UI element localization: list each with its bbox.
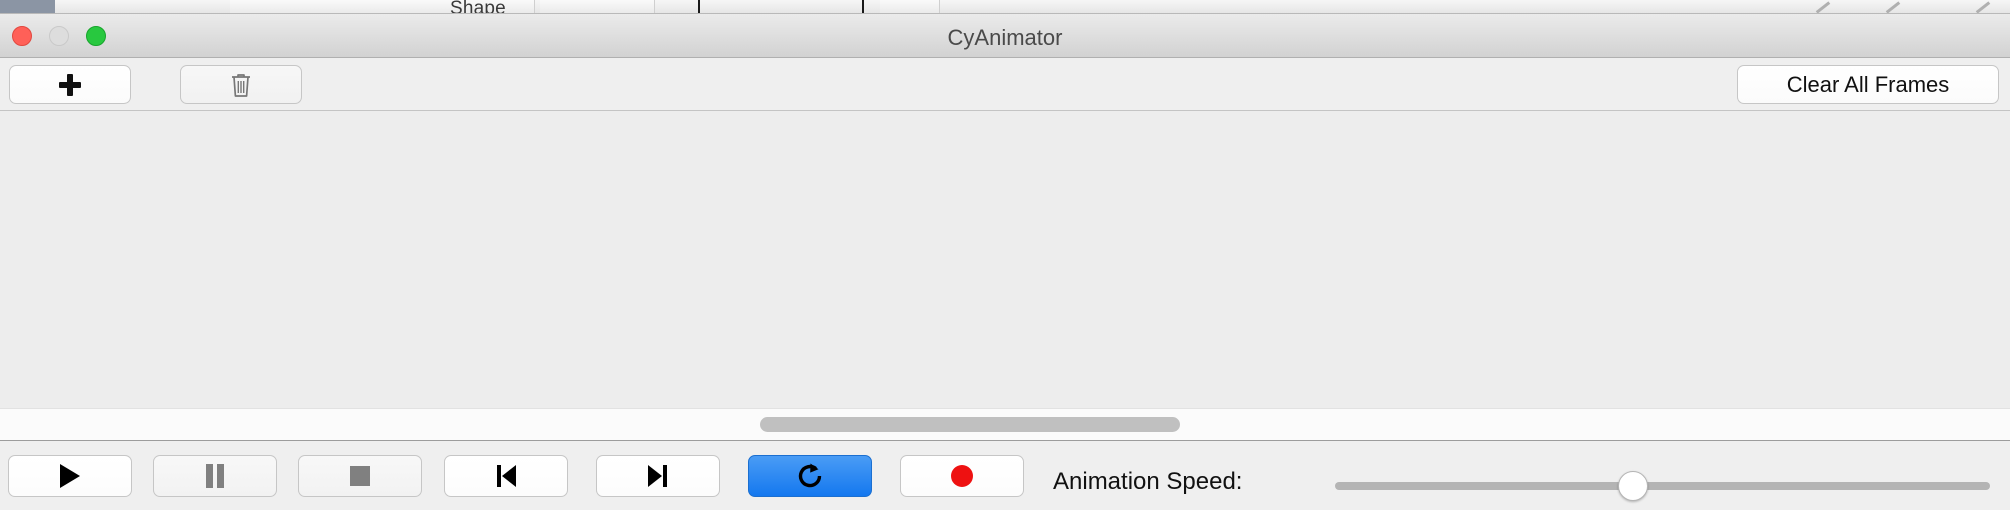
timeline-panel[interactable]: 12131415161718 Seconds xyxy=(0,111,2010,408)
plus-icon xyxy=(59,74,81,96)
background-window-strip: Shape xyxy=(0,0,2010,14)
add-frame-button[interactable] xyxy=(9,65,131,104)
background-chip xyxy=(880,0,940,14)
scrollbar-thumb[interactable] xyxy=(760,417,1180,432)
background-tick-mark xyxy=(698,0,700,14)
pause-icon xyxy=(203,463,227,489)
window-title: CyAnimator xyxy=(0,25,2010,51)
skip-to-end-button[interactable] xyxy=(596,455,720,497)
trash-icon xyxy=(230,72,252,98)
horizontal-scrollbar[interactable] xyxy=(0,408,2010,441)
toolbar: Clear All Frames xyxy=(0,58,2010,111)
skip-to-end-icon xyxy=(645,463,671,489)
skip-to-start-icon xyxy=(493,463,519,489)
title-bar: CyAnimator xyxy=(0,14,2010,58)
play-icon xyxy=(57,462,83,490)
loop-icon xyxy=(795,461,825,491)
slider-track[interactable] xyxy=(1335,482,1990,490)
playback-controls: Animation Speed: xyxy=(0,441,2010,510)
background-diagonal-icon xyxy=(1975,1,1989,13)
clear-all-frames-button[interactable]: Clear All Frames xyxy=(1737,65,1999,104)
delete-frame-button[interactable] xyxy=(180,65,302,104)
background-chip xyxy=(540,0,655,14)
slider-thumb[interactable] xyxy=(1618,471,1648,501)
background-diagonal-icon xyxy=(1885,1,1899,13)
record-button[interactable] xyxy=(900,455,1024,497)
cyanimator-window: Shape CyAnimator Clear All Frames xyxy=(0,0,2010,510)
skip-to-start-button[interactable] xyxy=(444,455,568,497)
background-dark-chip xyxy=(0,0,55,14)
loop-button[interactable] xyxy=(748,455,872,497)
animation-speed-label: Animation Speed: xyxy=(1053,468,1242,496)
stop-button[interactable] xyxy=(298,455,422,497)
background-diagonal-icon xyxy=(1815,1,1829,13)
stop-icon xyxy=(348,464,372,488)
record-icon xyxy=(949,463,975,489)
pause-button[interactable] xyxy=(153,455,277,497)
animation-speed-slider[interactable] xyxy=(1335,482,1990,490)
background-tick-mark xyxy=(862,0,864,14)
background-window-label: Shape xyxy=(450,0,506,14)
play-button[interactable] xyxy=(8,455,132,497)
clear-all-frames-label: Clear All Frames xyxy=(1787,72,1950,98)
